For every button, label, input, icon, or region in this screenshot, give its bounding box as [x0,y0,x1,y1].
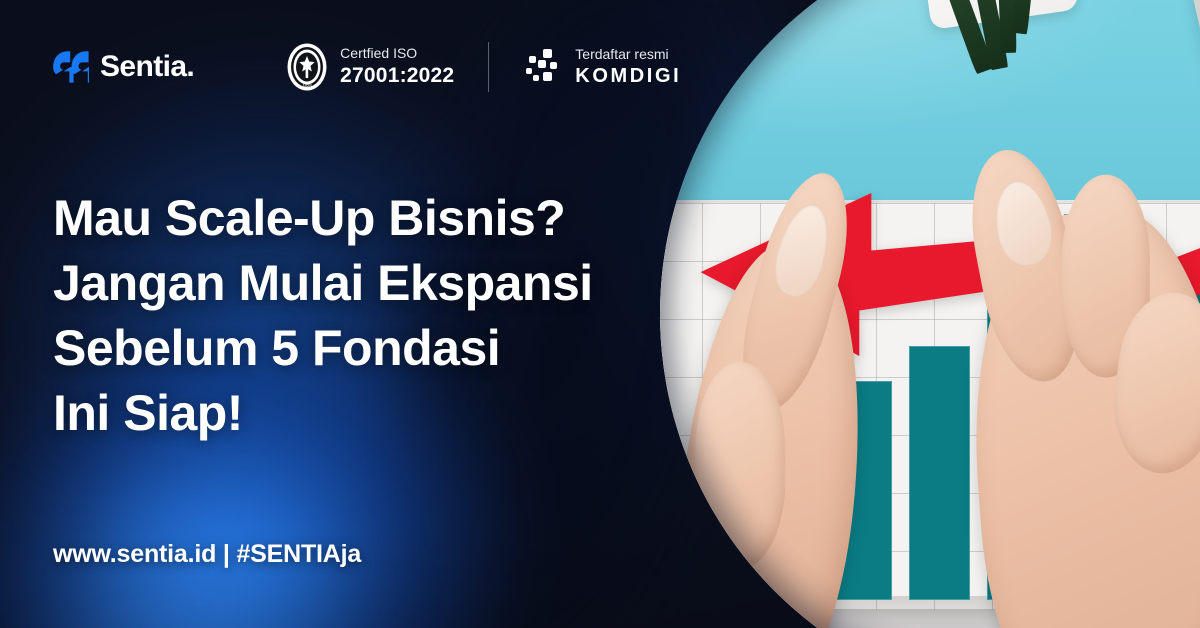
headline-line-2: Jangan Mulai Ekspansi [53,251,673,316]
certification-badges: 1828 Certfied ISO 27001:2022 [286,42,681,92]
svg-text:1828: 1828 [303,83,313,88]
brand-logo[interactable]: Sentia. [53,50,194,84]
iso-certification-badge: 1828 Certfied ISO 27001:2022 [286,42,454,92]
komdigi-badge-text: Terdaftar resmi KOMDIGI [575,45,681,89]
right-hand [959,204,1200,628]
komdigi-badge-name: KOMDIGI [575,64,681,89]
iso-badge-top-label: Certfied ISO [340,44,454,63]
badge-divider [488,42,489,92]
header: Sentia. 1828 Certfied ISO 27001:2022 [53,42,681,92]
finger [695,363,785,570]
iso-badge-standard: 27001:2022 [340,63,454,89]
sentia-logo-icon [53,50,89,84]
komdigi-badge-top-label: Terdaftar resmi [575,45,681,64]
brand-name: Sentia. [100,50,194,84]
headline-line-3: Sebelum 5 Fondasi [53,316,673,381]
komdigi-certification-badge: Terdaftar resmi KOMDIGI [523,45,681,89]
headline-line-4: Ini Siap! [53,381,673,446]
footer-website-hashtag[interactable]: www.sentia.id | #SENTIAja [53,540,361,569]
bureau-veritas-seal-icon: 1828 [286,42,328,92]
headline-line-1: Mau Scale-Up Bisnis? [53,186,673,251]
chart-bar [909,346,970,601]
komdigi-node-network-icon [523,47,563,87]
hero-photo: caps shift fn co 2 1 [660,0,1200,628]
page-title: Mau Scale-Up Bisnis? Jangan Mulai Ekspan… [53,186,673,446]
hero-photo-circle: caps shift fn co 2 1 [660,0,1200,628]
iso-badge-text: Certfied ISO 27001:2022 [340,44,454,89]
marketing-banner: caps shift fn co 2 1 [0,0,1200,628]
